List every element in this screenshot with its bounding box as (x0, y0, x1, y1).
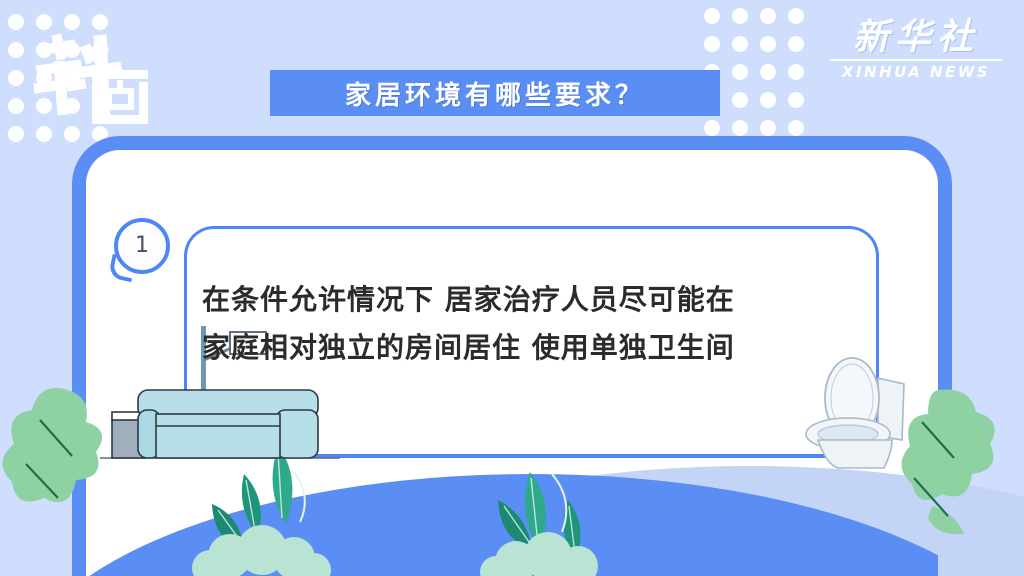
badge-number-label: 1 (135, 235, 149, 257)
content-card-inner: 1 在条件允许情况下 居家治疗人员尽可能在 家庭相对独立的房间居住 使用单独卫生… (86, 150, 938, 576)
toilet-illustration (792, 356, 912, 472)
step-number-badge: 1 (114, 218, 170, 274)
dot (788, 120, 804, 136)
sofa-illustration (100, 380, 340, 458)
body-text: 在条件允许情况下 居家治疗人员尽可能在 家庭相对独立的房间居住 使用单独卫生间 (202, 276, 882, 372)
dot (8, 70, 24, 86)
xinhua-logo-rule (830, 59, 1002, 61)
dot (760, 36, 776, 52)
dot (8, 14, 24, 30)
dot (8, 98, 24, 114)
plant-cluster-center (482, 456, 662, 576)
dot (788, 36, 804, 52)
dot (788, 92, 804, 108)
dot (64, 126, 80, 142)
dot (732, 120, 748, 136)
content-card: 1 在条件允许情况下 居家治疗人员尽可能在 家庭相对独立的房间居住 使用单独卫生… (72, 136, 952, 576)
dot (732, 8, 748, 24)
kehua-logo (30, 18, 155, 128)
dot (760, 8, 776, 24)
dot (704, 36, 720, 52)
xinhua-news-logo: 新华社 XINHUA NEWS (826, 18, 1006, 80)
infographic-canvas: 新华社 XINHUA NEWS 家居环境有哪些要求？ 1 在条件允许情况下 居家… (0, 0, 1024, 576)
dot (788, 64, 804, 80)
dot (36, 126, 52, 142)
xinhua-logo-cn: 新华社 (826, 18, 1006, 58)
badge-ring: 1 (114, 218, 170, 274)
dot (760, 92, 776, 108)
dot (732, 92, 748, 108)
dot (732, 64, 748, 80)
dot (732, 36, 748, 52)
xinhua-logo-en: XINHUA NEWS (826, 63, 1006, 81)
title-banner: 家居环境有哪些要求？ (270, 70, 720, 116)
page-title: 家居环境有哪些要求？ (345, 75, 645, 112)
dot (8, 42, 24, 58)
dot (760, 120, 776, 136)
dot (704, 120, 720, 136)
dot (760, 64, 776, 80)
dot (704, 8, 720, 24)
dot (788, 8, 804, 24)
dot (8, 126, 24, 142)
